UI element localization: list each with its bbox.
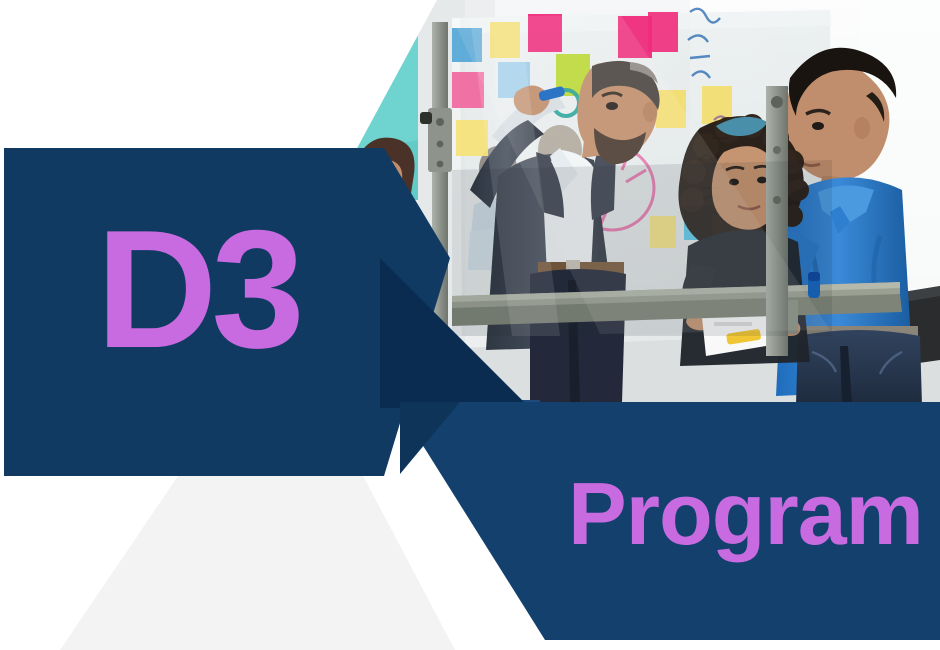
page-subtitle: Program <box>568 470 923 558</box>
poster-canvas: D3 Program <box>0 0 940 650</box>
page-title: D3 <box>96 205 299 373</box>
